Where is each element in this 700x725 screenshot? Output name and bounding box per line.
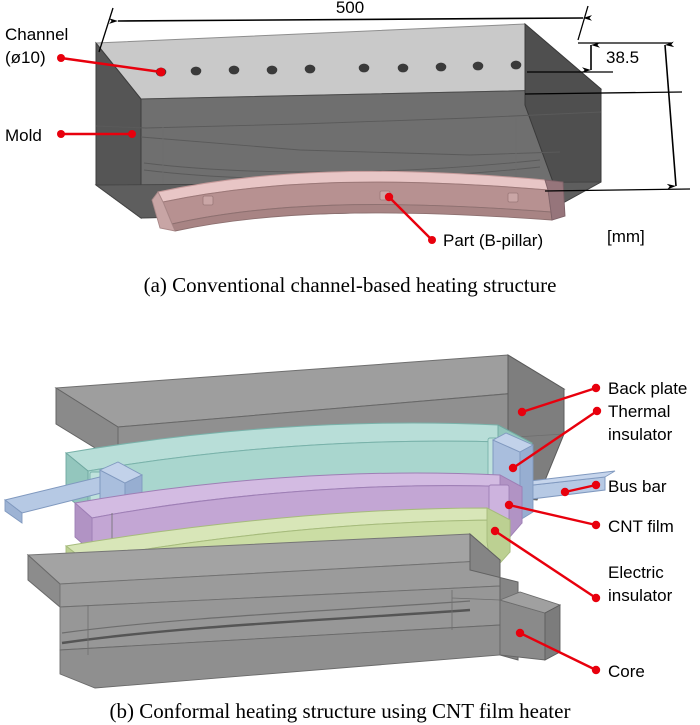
part-boss [203, 196, 213, 205]
dimension-value-500: 500 [336, 0, 364, 17]
leader-dot-end [128, 130, 136, 138]
label-mold: Mold [5, 126, 42, 145]
leader-dot-start [592, 521, 600, 529]
leader-dot-end [561, 488, 569, 496]
dimension-line-overall [665, 45, 676, 186]
channel-hole [229, 66, 240, 75]
channel-hole [436, 63, 447, 72]
panel-a: 500 38.5 [mm] Channel (ø10) [5, 0, 690, 297]
leader-dot-end [516, 629, 524, 637]
leader-dot-end [518, 408, 526, 416]
label-thermal-insulator-line2: insulator [608, 425, 673, 444]
units-label: [mm] [607, 227, 645, 246]
label-electric-insulator-line1: Electric [608, 563, 664, 582]
caption-panel-b: (b) Conformal heating structure using CN… [110, 699, 571, 723]
caption-panel-a: (a) Conventional channel-based heating s… [144, 273, 557, 297]
label-core: Core [608, 662, 645, 681]
leader-dot-start [592, 666, 600, 674]
label-cnt-film: CNT film [608, 517, 674, 536]
part-boss [508, 193, 518, 202]
label-electric-insulator-line2: insulator [608, 586, 673, 605]
dimension-line-500 [118, 18, 583, 21]
label-part: Part (B-pillar) [443, 231, 543, 250]
leader-dot-start [592, 384, 600, 392]
figure-root: 500 38.5 [mm] Channel (ø10) [0, 0, 700, 725]
leader-dot-start [57, 130, 65, 138]
leader-dot-end [509, 464, 517, 472]
label-channel-line1: Channel [5, 25, 68, 44]
leader-dot-start [592, 594, 600, 602]
leader-dot-end [505, 501, 513, 509]
core-solid [28, 534, 560, 688]
leader-dot-end [491, 527, 499, 535]
leader-dot-start [592, 481, 600, 489]
label-back-plate: Back plate [608, 379, 687, 398]
leader-dot-start [385, 193, 393, 201]
label-bus-bar: Bus bar [608, 477, 667, 496]
panel-b: Back plate Thermal insulator Bus bar CNT… [5, 355, 687, 723]
dimension-value-38-5: 38.5 [606, 48, 639, 67]
leader-dot-start [593, 407, 601, 415]
leader-dot-end [428, 236, 436, 244]
channel-hole [191, 67, 202, 76]
label-channel-line2: (ø10) [5, 48, 46, 67]
leader-dot-end [157, 68, 166, 77]
channel-hole [359, 64, 370, 73]
channel-hole [511, 61, 522, 70]
channel-hole [267, 66, 278, 75]
technical-diagram-svg: 500 38.5 [mm] Channel (ø10) [0, 0, 700, 725]
channel-hole [398, 64, 409, 73]
leader-dot-start [57, 54, 65, 62]
channel-hole [305, 65, 316, 74]
extension-line-right [578, 6, 588, 40]
label-thermal-insulator-line1: Thermal [608, 402, 670, 421]
channel-hole [473, 62, 484, 71]
